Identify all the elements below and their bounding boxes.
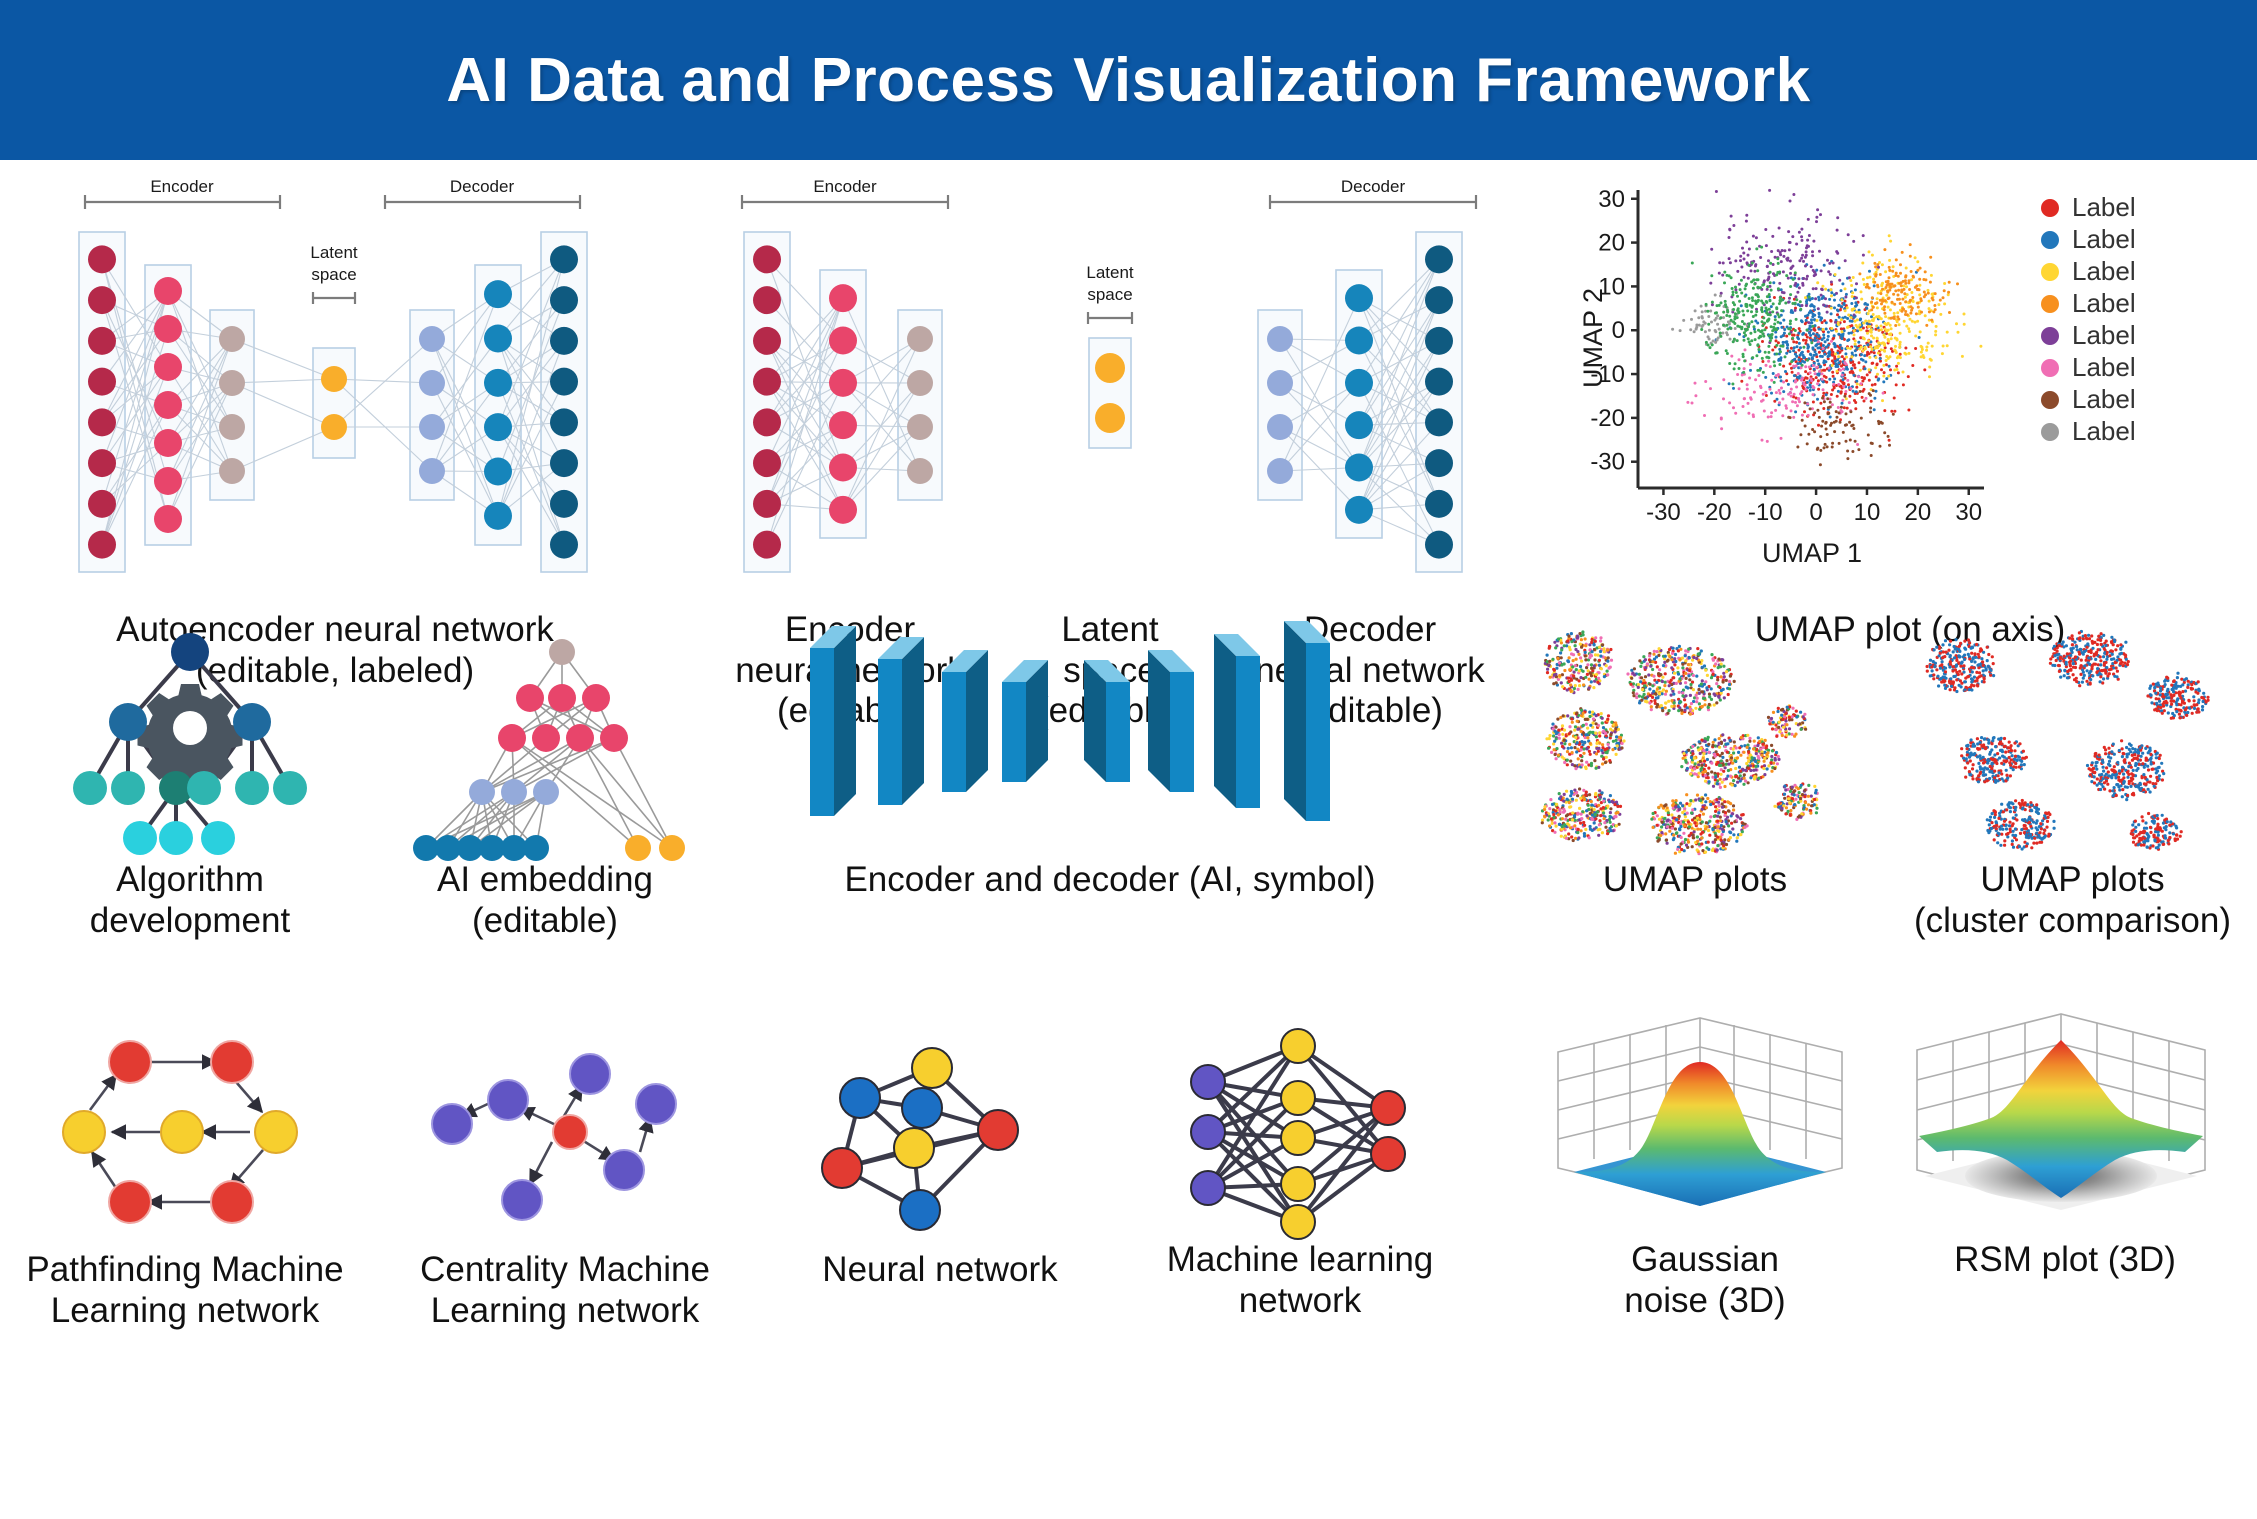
cluster-point bbox=[1580, 829, 1583, 832]
scatter-point bbox=[1830, 327, 1833, 330]
scatter-point bbox=[1761, 439, 1764, 442]
scatter-point bbox=[1819, 402, 1822, 405]
scatter-point bbox=[1812, 348, 1815, 351]
scatter-point bbox=[1822, 333, 1825, 336]
scatter-point bbox=[1768, 308, 1771, 311]
scatter-point bbox=[1805, 388, 1808, 391]
cluster-point bbox=[1576, 794, 1579, 797]
scatter-point bbox=[1877, 352, 1880, 355]
scatter-point bbox=[1823, 264, 1826, 267]
cluster-point bbox=[1704, 800, 1707, 803]
cluster-point bbox=[1709, 800, 1712, 803]
cluster-point bbox=[1741, 830, 1744, 833]
scatter-point bbox=[1870, 308, 1873, 311]
cluster-point bbox=[1942, 680, 1945, 683]
cluster-point bbox=[1694, 707, 1697, 710]
scatter-point bbox=[1873, 397, 1876, 400]
latent-label-line2: space bbox=[311, 265, 356, 284]
scatter-point bbox=[1838, 316, 1841, 319]
scatter-point bbox=[1720, 427, 1723, 430]
cluster-point bbox=[1553, 816, 1556, 819]
cluster-point bbox=[1963, 658, 1966, 661]
scatter-point bbox=[1899, 272, 1902, 275]
scatter-point bbox=[1767, 345, 1770, 348]
scatter-point bbox=[1853, 333, 1856, 336]
cluster-point bbox=[1664, 803, 1667, 806]
embedding-node bbox=[600, 724, 628, 752]
embedding-node bbox=[523, 835, 549, 861]
cluster-point bbox=[1672, 647, 1675, 650]
scatter-point bbox=[1770, 411, 1773, 414]
cluster-point bbox=[1609, 821, 1612, 824]
scatter-point bbox=[1716, 351, 1719, 354]
caption-ai-embedding: AI embedding (editable) bbox=[390, 860, 700, 941]
scatter-point bbox=[1815, 353, 1818, 356]
scatter-point bbox=[1804, 296, 1807, 299]
scatter-point bbox=[1851, 295, 1854, 298]
scatter-point bbox=[1889, 333, 1892, 336]
cluster-point bbox=[1608, 759, 1611, 762]
cluster-point bbox=[1626, 672, 1629, 675]
latent-brace bbox=[1088, 312, 1132, 324]
scatter-point bbox=[1750, 280, 1753, 283]
cluster-point bbox=[1768, 722, 1771, 725]
cluster-point bbox=[1560, 835, 1563, 838]
cluster-point bbox=[1541, 821, 1544, 824]
cluster-point bbox=[1572, 674, 1575, 677]
scatter-point bbox=[1716, 304, 1719, 307]
cluster-point bbox=[1700, 683, 1703, 686]
cluster-point bbox=[1672, 693, 1675, 696]
cluster-point bbox=[1566, 750, 1569, 753]
cluster-point bbox=[2087, 634, 2090, 637]
scatter-point bbox=[1801, 304, 1804, 307]
scatter-point bbox=[1820, 425, 1823, 428]
cluster-point bbox=[1719, 786, 1722, 789]
scatter-point bbox=[1739, 259, 1742, 262]
cluster-point bbox=[1748, 740, 1751, 743]
network-node bbox=[1267, 326, 1293, 352]
scatter-point bbox=[1929, 256, 1932, 259]
scatter-point bbox=[1873, 284, 1876, 287]
cluster-point bbox=[1648, 688, 1651, 691]
scatter-point bbox=[1799, 346, 1802, 349]
cluster-point bbox=[1807, 795, 1810, 798]
scatter-point bbox=[1845, 423, 1848, 426]
scatter-point bbox=[1819, 449, 1822, 452]
cluster-point bbox=[1598, 823, 1601, 826]
scatter-point bbox=[1819, 355, 1822, 358]
cluster-point bbox=[1546, 654, 1549, 657]
scatter-point bbox=[1734, 327, 1737, 330]
scatter-point bbox=[1714, 312, 1717, 315]
cluster-point bbox=[1743, 777, 1746, 780]
cluster-point bbox=[1689, 772, 1692, 775]
scatter-point bbox=[1796, 291, 1799, 294]
cluster-point bbox=[1570, 717, 1573, 720]
figure-umap-cluster-comparison[interactable]: UMAP plots (cluster comparison) bbox=[1900, 610, 2245, 941]
scatter-point bbox=[1979, 345, 1982, 348]
cluster-point bbox=[1685, 761, 1688, 764]
scatter-point bbox=[1745, 214, 1748, 217]
scatter-point bbox=[1797, 372, 1800, 375]
cluster-point bbox=[1707, 706, 1710, 709]
cluster-point bbox=[1584, 733, 1587, 736]
scatter-point bbox=[1762, 302, 1765, 305]
cluster-point bbox=[1666, 825, 1669, 828]
cluster-point bbox=[1710, 698, 1713, 701]
cluster-point bbox=[1980, 674, 1983, 677]
scatter-point bbox=[1854, 343, 1857, 346]
scatter-point bbox=[1733, 338, 1736, 341]
scatter-point bbox=[1916, 269, 1919, 272]
scatter-point bbox=[1877, 344, 1880, 347]
cluster-point bbox=[1633, 673, 1636, 676]
scatter-point bbox=[1857, 375, 1860, 378]
cluster-point bbox=[1575, 658, 1578, 661]
scatter-point bbox=[1903, 288, 1906, 291]
figure-umap-plots[interactable]: UMAP plots bbox=[1530, 610, 1860, 901]
cluster-point bbox=[1679, 700, 1682, 703]
cluster-point bbox=[1975, 643, 1978, 646]
cluster-point bbox=[1684, 672, 1687, 675]
cluster-point bbox=[1730, 822, 1733, 825]
cluster-point bbox=[1554, 753, 1557, 756]
cluster-point bbox=[1721, 806, 1724, 809]
cluster-point bbox=[1609, 794, 1612, 797]
cluster-point bbox=[1549, 676, 1552, 679]
scatter-point bbox=[1765, 394, 1768, 397]
scatter-point bbox=[1732, 387, 1735, 390]
cluster-point bbox=[1589, 753, 1592, 756]
figure-encoder-decoder-symbol[interactable]: Encoder and decoder (AI, symbol) bbox=[790, 620, 1430, 901]
network-node bbox=[88, 286, 116, 314]
cluster-point bbox=[1642, 679, 1645, 682]
embedding-node bbox=[549, 639, 575, 665]
scatter-point bbox=[1742, 355, 1745, 358]
scatter-point bbox=[1917, 306, 1920, 309]
scatter-point bbox=[1956, 282, 1959, 285]
cluster-point bbox=[1571, 798, 1574, 801]
scatter-point bbox=[1874, 383, 1877, 386]
scatter-point bbox=[1816, 319, 1819, 322]
scatter-point bbox=[1887, 435, 1890, 438]
cluster-point bbox=[1630, 669, 1633, 672]
scatter-point bbox=[1747, 337, 1750, 340]
scatter-point bbox=[1862, 278, 1865, 281]
cluster-point bbox=[1658, 668, 1661, 671]
scatter-point bbox=[1765, 301, 1768, 304]
scatter-point bbox=[1840, 406, 1843, 409]
scatter-point bbox=[1923, 368, 1926, 371]
scatter-point bbox=[1862, 234, 1865, 237]
cluster-point bbox=[2113, 640, 2116, 643]
scatter-point bbox=[1789, 322, 1792, 325]
scatter-point bbox=[1767, 351, 1770, 354]
cluster-point bbox=[1594, 817, 1597, 820]
scatter-point bbox=[1796, 345, 1799, 348]
scatter-point bbox=[1795, 318, 1798, 321]
cluster-point bbox=[1664, 681, 1667, 684]
scatter-point bbox=[1850, 331, 1853, 334]
scatter-point bbox=[1880, 317, 1883, 320]
cluster-point bbox=[1707, 841, 1710, 844]
cluster-point bbox=[1704, 669, 1707, 672]
scatter-point bbox=[1846, 450, 1849, 453]
scatter-point bbox=[1772, 302, 1775, 305]
scatter-point bbox=[1750, 310, 1753, 313]
scatter-point bbox=[1880, 342, 1883, 345]
scatter-point bbox=[1797, 337, 1800, 340]
scatter-point bbox=[1829, 273, 1832, 276]
cluster-point bbox=[1582, 747, 1585, 750]
cluster-point bbox=[1673, 657, 1676, 660]
cluster-point bbox=[1729, 739, 1732, 742]
scatter-point bbox=[1957, 331, 1960, 334]
cluster-point bbox=[1948, 643, 1951, 646]
scatter-point bbox=[1873, 262, 1876, 265]
cluster-point bbox=[1558, 808, 1561, 811]
figure-algorithm-development[interactable]: Algorithm development bbox=[40, 620, 340, 941]
cluster-point bbox=[1712, 741, 1715, 744]
cluster-point bbox=[1591, 650, 1594, 653]
scatter-point bbox=[1707, 335, 1710, 338]
scatter-point bbox=[1911, 320, 1914, 323]
scatter-point bbox=[1875, 390, 1878, 393]
cluster-point bbox=[2080, 659, 2083, 662]
cluster-point bbox=[1584, 644, 1587, 647]
cluster-point bbox=[1582, 633, 1585, 636]
cluster-point bbox=[1596, 681, 1599, 684]
cluster-point bbox=[1572, 653, 1575, 656]
cluster-point bbox=[1579, 822, 1582, 825]
scatter-point bbox=[1773, 381, 1776, 384]
scatter-point bbox=[1815, 216, 1818, 219]
scatter-point bbox=[1806, 239, 1809, 242]
cluster-point bbox=[1708, 751, 1711, 754]
cluster-point bbox=[2091, 674, 2094, 677]
scatter-point bbox=[1719, 332, 1722, 335]
scatter-point bbox=[1804, 315, 1807, 318]
cluster-point bbox=[1698, 818, 1701, 821]
cluster-point bbox=[1707, 848, 1710, 851]
figure-autoencoder[interactable]: Encoder Decoder Latent space Autoencoder… bbox=[55, 170, 615, 691]
scatter-point bbox=[1761, 357, 1764, 360]
x-axis-label: UMAP 1 bbox=[1762, 538, 1862, 568]
scatter-point bbox=[1892, 293, 1895, 296]
scatter-point bbox=[1749, 332, 1752, 335]
scatter-point bbox=[1836, 229, 1839, 232]
scatter-point bbox=[1833, 299, 1836, 302]
network-node bbox=[1345, 411, 1373, 439]
cluster-point bbox=[1751, 756, 1754, 759]
cluster-point bbox=[1770, 758, 1773, 761]
scatter-point bbox=[1892, 413, 1895, 416]
cluster-point bbox=[1929, 659, 1932, 662]
scatter-point bbox=[1732, 340, 1735, 343]
cluster-point bbox=[1701, 666, 1704, 669]
scatter-point bbox=[1890, 410, 1893, 413]
cluster-point bbox=[1601, 743, 1604, 746]
cluster-point bbox=[1700, 842, 1703, 845]
cluster-point bbox=[1785, 723, 1788, 726]
scatter-point bbox=[1705, 303, 1708, 306]
legend-label: Label bbox=[2072, 256, 2136, 286]
cluster-point bbox=[1638, 695, 1641, 698]
cluster-point bbox=[1586, 718, 1589, 721]
cluster-point bbox=[1788, 716, 1791, 719]
cluster-point bbox=[1590, 654, 1593, 657]
scatter-point bbox=[1874, 347, 1877, 350]
scatter-point bbox=[1731, 383, 1734, 386]
cluster-point bbox=[1700, 837, 1703, 840]
scatter-point bbox=[1852, 240, 1855, 243]
cluster-point bbox=[1585, 767, 1588, 770]
cluster-point bbox=[1707, 736, 1710, 739]
scatter-point bbox=[1769, 339, 1772, 342]
scatter-point bbox=[1802, 339, 1805, 342]
scatter-point bbox=[1853, 374, 1856, 377]
scatter-point bbox=[1809, 353, 1812, 356]
cluster-point bbox=[1937, 684, 1940, 687]
scatter-point bbox=[1834, 345, 1837, 348]
scatter-point bbox=[1880, 368, 1883, 371]
scatter-point bbox=[1830, 340, 1833, 343]
cluster-point bbox=[1773, 805, 1776, 808]
scatter-point bbox=[1850, 355, 1853, 358]
scatter-point bbox=[1829, 288, 1832, 291]
scatter-point bbox=[1885, 355, 1888, 358]
cluster-point bbox=[1719, 773, 1722, 776]
scatter-point bbox=[1815, 287, 1818, 290]
cluster-point bbox=[1668, 709, 1671, 712]
cluster-point bbox=[1714, 662, 1717, 665]
cluster-point bbox=[1683, 709, 1686, 712]
scatter-point bbox=[1763, 328, 1766, 331]
decoder-brace-label: Decoder bbox=[1341, 177, 1406, 196]
scatter-point bbox=[1779, 392, 1782, 395]
scatter-point bbox=[1755, 236, 1758, 239]
cluster-point bbox=[1753, 740, 1756, 743]
scatter-point bbox=[1894, 289, 1897, 292]
network-node bbox=[829, 327, 857, 355]
figure-ai-embedding[interactable]: AI embedding (editable) bbox=[390, 620, 700, 941]
scatter-point bbox=[1914, 335, 1917, 338]
scatter-point bbox=[1800, 235, 1803, 238]
cluster-point bbox=[1687, 663, 1690, 666]
cluster-point bbox=[1557, 637, 1560, 640]
scatter-point bbox=[1794, 271, 1797, 274]
scatter-point bbox=[1768, 334, 1771, 337]
scatter-point bbox=[1815, 333, 1818, 336]
scatter-point bbox=[1904, 282, 1907, 285]
cluster-point bbox=[1973, 676, 1976, 679]
cluster-point bbox=[2055, 659, 2058, 662]
scatter-point bbox=[1770, 250, 1773, 253]
cluster-point bbox=[1798, 791, 1801, 794]
scatter-point bbox=[1904, 347, 1907, 350]
scatter-point bbox=[1781, 398, 1784, 401]
cluster-point bbox=[1616, 811, 1619, 814]
cluster-point bbox=[1649, 665, 1652, 668]
cluster-point bbox=[1571, 721, 1574, 724]
cluster-point bbox=[1594, 640, 1597, 643]
cluster-point bbox=[2078, 684, 2081, 687]
scatter-point bbox=[1785, 335, 1788, 338]
cluster-point bbox=[1785, 734, 1788, 737]
scatter-point bbox=[1872, 306, 1875, 309]
scatter-point bbox=[1778, 282, 1781, 285]
cluster-point bbox=[1560, 681, 1563, 684]
cluster-point bbox=[1983, 680, 1986, 683]
scatter-point bbox=[1852, 427, 1855, 430]
scatter-point bbox=[1881, 399, 1884, 402]
cluster-point bbox=[1685, 844, 1688, 847]
network-node bbox=[1425, 531, 1453, 559]
network-node bbox=[550, 531, 578, 559]
cluster-point bbox=[1681, 694, 1684, 697]
scatter-point bbox=[1716, 339, 1719, 342]
cluster-point bbox=[2104, 644, 2107, 647]
scatter-point bbox=[1881, 263, 1884, 266]
cluster-point bbox=[2124, 641, 2127, 644]
scatter-point bbox=[1784, 370, 1787, 373]
cluster-point bbox=[1579, 665, 1582, 668]
cluster-point bbox=[1941, 656, 1944, 659]
scatter-point bbox=[1793, 346, 1796, 349]
scatter-point bbox=[1918, 278, 1921, 281]
scatter-point bbox=[1769, 299, 1772, 302]
scatter-point bbox=[1840, 289, 1843, 292]
scatter-point bbox=[1947, 291, 1950, 294]
scatter-point bbox=[1914, 347, 1917, 350]
cluster-point bbox=[1573, 814, 1576, 817]
legend-swatch bbox=[2041, 263, 2059, 281]
network-node bbox=[154, 353, 182, 381]
cluster-point bbox=[1681, 663, 1684, 666]
cluster-point bbox=[1948, 665, 1951, 668]
network-node bbox=[484, 280, 512, 308]
cluster-point bbox=[1606, 649, 1609, 652]
scatter-point bbox=[1916, 320, 1919, 323]
cluster-point bbox=[1584, 654, 1587, 657]
cluster-point bbox=[1552, 742, 1555, 745]
scatter-point bbox=[1798, 377, 1801, 380]
cluster-point bbox=[1926, 670, 1929, 673]
cluster-point bbox=[2099, 655, 2102, 658]
cluster-point bbox=[1929, 674, 1932, 677]
scatter-point bbox=[1738, 358, 1741, 361]
cluster-point bbox=[2063, 674, 2066, 677]
cluster-point bbox=[1566, 688, 1569, 691]
cluster-point bbox=[1714, 694, 1717, 697]
scatter-point bbox=[1837, 361, 1840, 364]
figure-umap-axis[interactable]: -30-20-100102030-30-20-100102030 UMAP 1 … bbox=[1580, 170, 2240, 651]
cluster-point bbox=[1590, 641, 1593, 644]
scatter-point bbox=[1825, 421, 1828, 424]
scatter-point bbox=[1734, 362, 1737, 365]
cluster-point bbox=[1776, 710, 1779, 713]
scatter-point bbox=[1806, 381, 1809, 384]
scatter-point bbox=[1899, 332, 1902, 335]
scatter-point bbox=[1779, 251, 1782, 254]
cluster-point bbox=[1955, 678, 1958, 681]
cluster-point bbox=[2099, 659, 2102, 662]
cluster-point bbox=[1677, 673, 1680, 676]
cluster-point bbox=[1543, 815, 1546, 818]
scatter-point bbox=[1863, 354, 1866, 357]
scatter-point bbox=[1715, 190, 1718, 193]
